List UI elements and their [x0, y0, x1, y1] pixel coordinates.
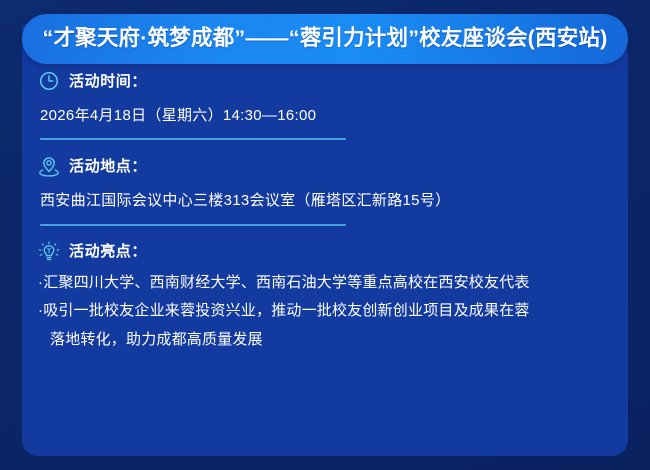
list-item: ·汇聚四川大学、西南财经大学、西南石油大学等重点高校在西安校友代表	[38, 269, 628, 298]
section-location-label: 活动地点：	[69, 159, 147, 174]
divider-after-location	[40, 224, 346, 226]
page-title: “才聚天府·筑梦成都”——“蓉引力计划”校友座谈会(西安站)	[43, 28, 608, 50]
location-pin-icon	[38, 155, 60, 177]
poster-body: 活动时间： 2026年4月18日（星期六）14:30—16:00 活动地点： 西…	[22, 64, 628, 456]
section-location-header: 活动地点：	[38, 149, 628, 183]
divider-after-time	[40, 138, 346, 140]
highlights-list: ·汇聚四川大学、西南财经大学、西南石油大学等重点高校在西安校友代表 ·吸引一批校…	[38, 269, 628, 355]
list-item: 落地转化，助力成都高质量发展	[38, 326, 628, 355]
section-time-header: 活动时间：	[38, 64, 628, 98]
list-item: ·吸引一批校友企业来蓉投资兴业，推动一批校友创新创业项目及成果在蓉	[38, 297, 628, 326]
title-banner: “才聚天府·筑梦成都”——“蓉引力计划”校友座谈会(西安站)	[22, 14, 628, 64]
section-event-time: 活动时间： 2026年4月18日（星期六）14:30—16:00	[22, 64, 628, 140]
section-time-label: 活动时间：	[69, 74, 147, 89]
section-highlights-label: 活动亮点：	[69, 244, 147, 259]
event-time-value: 2026年4月18日（星期六）14:30—16:00	[38, 104, 628, 127]
event-poster: “才聚天府·筑梦成都”——“蓉引力计划”校友座谈会(西安站) 活动时间： 202…	[0, 0, 650, 470]
section-highlights-header: 活动亮点：	[38, 235, 628, 269]
section-event-location: 活动地点： 西安曲江国际会议中心三楼313会议室（雁塔区汇新路15号）	[22, 149, 628, 225]
section-event-highlights: 活动亮点： ·汇聚四川大学、西南财经大学、西南石油大学等重点高校在西安校友代表 …	[22, 235, 628, 355]
lightbulb-icon	[38, 241, 60, 263]
event-location-value: 西安曲江国际会议中心三楼313会议室（雁塔区汇新路15号）	[38, 189, 628, 212]
clock-icon	[38, 70, 60, 92]
